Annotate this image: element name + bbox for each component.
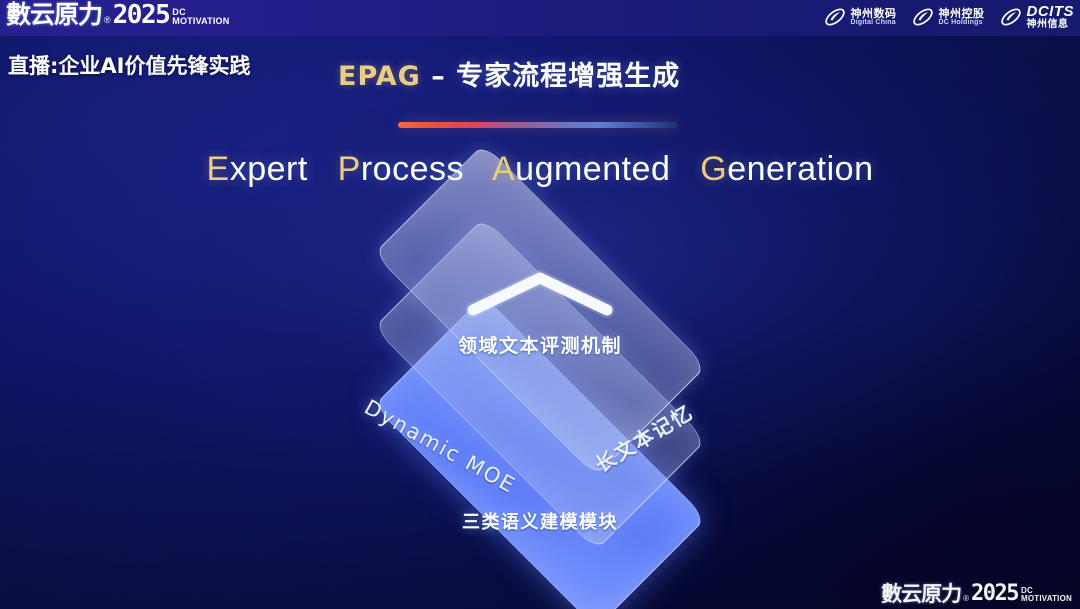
subtitle-word-generation: Generation [700, 150, 873, 188]
subtitle-remainder: rocess [361, 150, 464, 188]
partner-label: DCITS 神州信息 [1027, 4, 1075, 30]
partner-name-cn: 神州数码 [851, 8, 897, 20]
subtitle-initial: E [207, 150, 230, 188]
subtitle-word-augmented: Augmented [492, 150, 670, 188]
page-title: EPAG – 专家流程增强生成 [338, 54, 680, 93]
brand-dc-motivation: DC MOTIVATION [172, 8, 229, 28]
brand-motivation-line: MOTIVATION [1021, 595, 1072, 603]
subtitle-initial: G [700, 150, 727, 188]
slide-canvas: 數云原力 ® 2025 DC MOTIVATION 神州数码 Digital C… [0, 0, 1080, 609]
swirl-icon [911, 5, 935, 29]
subtitle-word-expert: Expert [207, 150, 308, 188]
brand-year: 2025 [113, 2, 170, 28]
partner-label: 神州数码 Digital China [851, 8, 897, 27]
footer-watermark-logo: 數云原力 ® 2025 DC MOTIVATION [881, 583, 1072, 605]
brand-name-cn: 數云原力 [881, 583, 961, 605]
subtitle-space [680, 150, 690, 188]
subtitle-word-process: Process [338, 150, 464, 188]
stack-label-bottom: 三类语义建模模块 [462, 508, 618, 534]
partner-logo-dcits: DCITS 神州信息 [999, 4, 1075, 30]
partner-name-cn: 神州控股 [939, 8, 985, 20]
partner-name-en: Digital China [851, 19, 897, 26]
partner-name-en: DC Holdings [939, 19, 985, 26]
subtitle-initial: A [492, 150, 515, 188]
swirl-icon [823, 5, 847, 29]
subtitle-initial: P [338, 150, 361, 188]
partner-label: 神州控股 DC Holdings [939, 8, 985, 27]
brand-registered-mark: ® [963, 592, 969, 605]
subtitle-remainder: ugmented [515, 150, 670, 188]
swirl-icon [999, 5, 1023, 29]
live-program-title: 直播:企业AI价值先锋实践 [8, 50, 250, 80]
partner-name-en: DCITS [1027, 4, 1075, 20]
partner-logo-digital-china: 神州数码 Digital China [823, 5, 897, 29]
page-title-acronym: EPAG [338, 61, 421, 92]
partner-logo-dc-holdings: 神州控股 DC Holdings [911, 5, 985, 29]
stack-label-top: 领域文本评测机制 [458, 331, 622, 358]
page-title-dash: – [421, 61, 456, 92]
page-title-chinese: 专家流程增强生成 [456, 61, 680, 92]
subtitle-space [474, 150, 484, 188]
brand-registered-mark: ® [104, 12, 111, 28]
brand-motivation-line: MOTIVATION [172, 17, 229, 26]
subtitle-remainder: eneration [727, 150, 873, 188]
subtitle-expansion: Expert Process Augmented Generation [0, 150, 1080, 189]
partner-name-cn: 神州信息 [1027, 20, 1075, 31]
subtitle-remainder: xpert [230, 150, 308, 188]
brand-logo: 數云原力 ® 2025 DC MOTIVATION [6, 2, 229, 28]
brand-dc-motivation: DC MOTIVATION [1021, 587, 1072, 605]
brand-year: 2025 [971, 583, 1018, 605]
subtitle-space [318, 150, 328, 188]
gradient-divider [398, 122, 678, 128]
partner-logo-group: 神州数码 Digital China 神州控股 DC Holdings DCIT… [823, 4, 1075, 30]
brand-name-cn: 數云原力 [6, 2, 102, 28]
